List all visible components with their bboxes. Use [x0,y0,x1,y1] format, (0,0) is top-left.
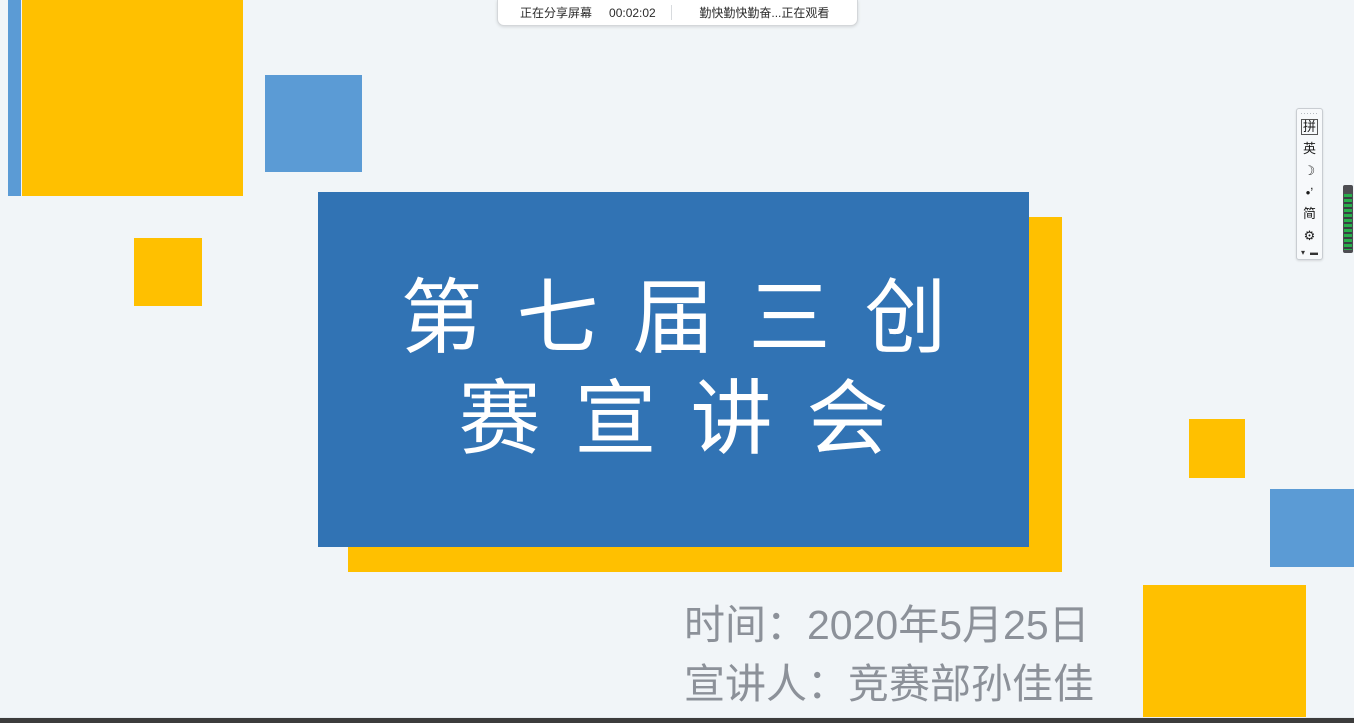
ime-gear-glyph: ⚙ [1304,229,1316,242]
scrollbar-thumb-stripes [1344,194,1352,250]
ime-simplified-glyph: 简 [1303,207,1316,220]
slide-title-card: 第七届三创 赛宣讲会 [318,192,1029,547]
deco-yellow-block-bottomright [1143,585,1306,723]
ime-pinyin-glyph: 拼 [1301,119,1318,135]
deco-blue-square-top [265,75,362,172]
right-edge-scrollbar[interactable] [1343,185,1353,253]
slide-title-line-2: 赛宣讲会 [424,377,922,463]
ime-punctuation-glyph: •ʼ [1306,186,1313,199]
share-watcher-label: 勤快勤快勤奋...正在观看 [699,4,829,21]
deco-blue-square-right [1270,489,1354,567]
screen-share-bar[interactable]: 正在分享屏幕 00:02:02 勤快勤快勤奋...正在观看 [497,0,858,26]
share-status-label: 正在分享屏幕 [520,4,592,21]
ime-expand-caret-icon[interactable]: ▾ [1301,248,1305,257]
ime-simplified-chinese-icon[interactable]: 简 [1297,203,1322,225]
bottom-dark-edge [0,718,1354,723]
share-status-group: 正在分享屏幕 00:02:02 [498,0,671,25]
ime-moon-mode-icon[interactable]: ☽ [1297,160,1322,182]
ime-pinyin-mode-icon[interactable]: 拼 [1297,117,1322,139]
ime-punctuation-mode-icon[interactable]: •ʼ [1297,181,1322,203]
screen-root: 第七届三创 赛宣讲会 时间：2020年5月25日 宣讲人：竞赛部孙佳佳 正在分享… [0,0,1354,723]
share-timer: 00:02:02 [609,6,656,20]
ime-english-chinese-toggle-icon[interactable]: 英 [1297,138,1322,160]
share-watcher-group[interactable]: 勤快勤快勤奋...正在观看 [672,0,857,25]
ime-settings-gear-icon[interactable]: ⚙ [1297,224,1322,246]
ime-minimize-icon[interactable]: ▬ [1310,248,1318,257]
slide-subtitle-speaker: 宣讲人：竞赛部孙佳佳 [684,655,1094,714]
slide-title-line-1: 第七届三创 [366,276,980,362]
deco-yellow-block-topleft [22,0,243,196]
deco-blue-vertical-bar [8,0,21,196]
slide-subtitle-date: 时间：2020年5月25日 [684,596,1094,655]
ime-moon-glyph: ☽ [1304,164,1316,177]
deco-yellow-square-left [134,238,202,306]
deco-yellow-square-right [1189,419,1245,478]
slide-subtitle-block: 时间：2020年5月25日 宣讲人：竞赛部孙佳佳 [684,596,1094,715]
ime-english-glyph: 英 [1303,142,1316,155]
ime-footer-controls[interactable]: ▾ ▬ [1297,246,1322,259]
ime-toolbar[interactable]: 拼 英 ☽ •ʼ 简 ⚙ ▾ ▬ [1296,108,1323,260]
